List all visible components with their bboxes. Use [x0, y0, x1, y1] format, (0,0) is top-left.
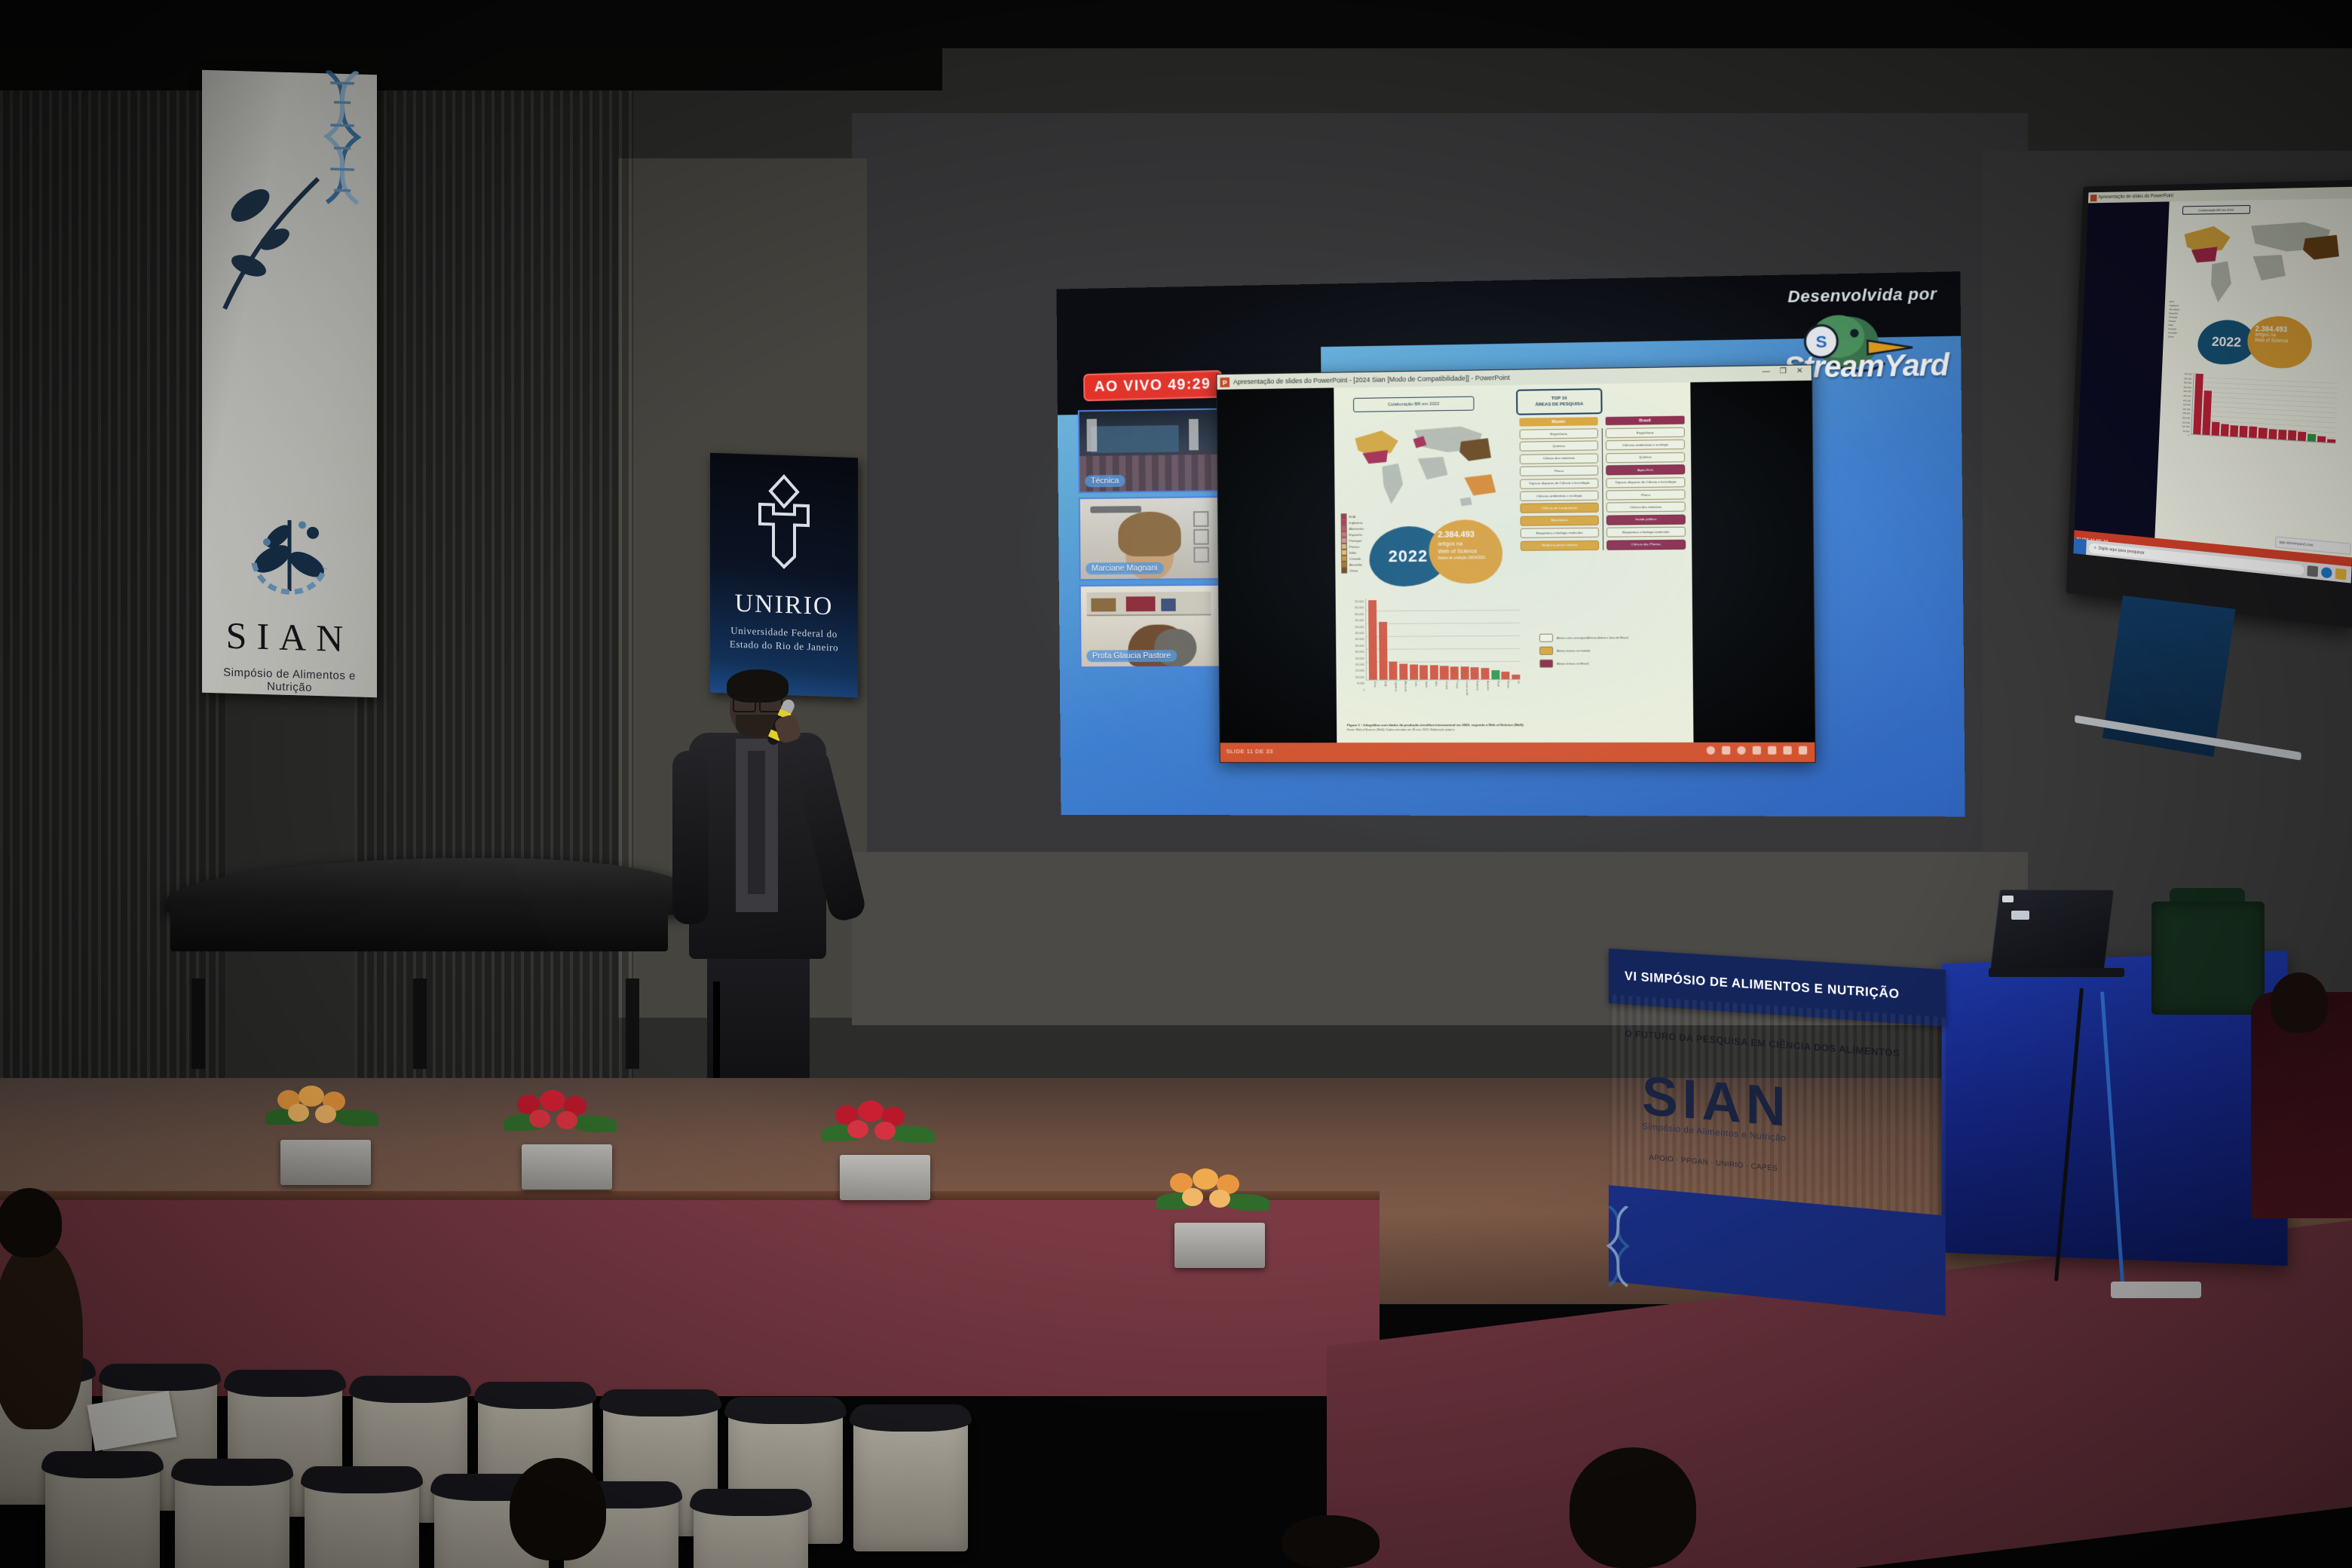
piano-leg [626, 978, 639, 1069]
chart-y-tick: 350.000 [1345, 643, 1364, 649]
chart-x-tick: Alemanha [1399, 681, 1407, 700]
chart-bar [1471, 667, 1479, 679]
research-area-brazil: Saúde pública [1606, 514, 1686, 525]
research-area-world: Engenharia [1520, 428, 1598, 439]
auditorium-seat [694, 1493, 808, 1568]
piano-body [170, 905, 668, 951]
speaker-arm-left [672, 751, 709, 924]
research-area-world: Medicina geral e interna [1521, 540, 1599, 550]
column-header-brazil: Brasil [1606, 416, 1685, 426]
chart-y-tick: 150.000 [1345, 668, 1364, 674]
stat-number: 2.384.493 [1438, 530, 1495, 540]
event-table-banner: VI SIMPÓSIO DE ALIMENTOS E NUTRIÇÃO O FU… [1609, 956, 1946, 1279]
chart-bar [1399, 664, 1407, 680]
participant-tile-tecnica[interactable]: Técnica [1078, 408, 1219, 493]
chart-y-tick: 300.000 [1345, 649, 1364, 655]
research-area-row: Medicina geral e internaCiência das Plan… [1521, 539, 1686, 550]
monitor-world-map [2177, 216, 2352, 308]
area-key-item: Áreas únicas no mundo [1539, 646, 1653, 655]
table-banner-title: VI SIMPÓSIO DE ALIMENTOS E NUTRIÇÃO [1625, 969, 1900, 1002]
presenter-laptop[interactable] [1989, 890, 2117, 980]
chart-x-tick: Brasil [1491, 681, 1499, 700]
chart-x-tick: Inglaterra [1389, 681, 1397, 700]
unirio-banner-title: UNIRIO [710, 589, 858, 623]
chart-x-tick: Rússia [1502, 681, 1510, 700]
chart-x-tick: Irã [1511, 681, 1520, 700]
chart-x-tick: Canadá [1440, 681, 1448, 700]
powerpoint-window[interactable]: P Apresentação de slides do PowerPoint -… [1216, 364, 1815, 763]
auditorium-seat [45, 1455, 160, 1568]
area-key-swatch [1539, 647, 1553, 655]
research-area-world: Ciências ambientais e ecologia [1520, 491, 1598, 501]
chart-bar [1410, 664, 1418, 679]
monitor-legend: EUAInglaterraAlemanhaEspanhaPortugalFran… [2168, 300, 2192, 340]
research-area-brazil: Agricultura [1606, 464, 1685, 475]
chart-x-tick: EUA [1379, 681, 1387, 701]
participant-tile-marciane[interactable]: Marciane Magnani [1079, 496, 1220, 580]
edge-browser-icon[interactable] [2321, 566, 2332, 578]
research-area-world: Ciência da Computação [1520, 503, 1598, 513]
search-icon: ⌕ [2094, 545, 2096, 550]
flower-arrangement-orange [1156, 1167, 1269, 1221]
more-icon[interactable] [1799, 746, 1807, 755]
column-header-world: Mundo [1519, 417, 1597, 426]
slide-caption: Figura 1 – Infográfico com dados da prod… [1347, 722, 1686, 732]
dna-helix-icon [1604, 1206, 1633, 1295]
chart-x-tick: Austrália [1481, 681, 1489, 700]
participant-name-label: Marciane Magnani [1086, 562, 1163, 575]
area-key-swatch [1539, 660, 1553, 668]
chart-bar [1389, 662, 1398, 680]
sian-banner-title: SIAN [202, 613, 377, 661]
chart-bar [1440, 666, 1448, 679]
chart-bar [2230, 425, 2238, 437]
auditorium-seat [305, 1470, 419, 1568]
research-area-world: Matemática [1521, 515, 1599, 525]
unirio-banner-subtitle: Universidade Federal doEstado do Rio de … [710, 623, 858, 656]
chart-bar [2221, 424, 2229, 436]
research-area-brazil: Ciências ambientais e ecologia [1606, 439, 1685, 450]
auditorium-scene: SIAN Simpósio de Alimentos e Nutrição UN… [0, 0, 2352, 1568]
live-status-badge: AO VIVO 49:29 [1083, 370, 1222, 401]
area-key-item: Áreas únicas no Brasil [1539, 659, 1653, 668]
research-area-brazil: Bioquímica e biologia molecular [1606, 527, 1686, 537]
chart-x-tick: Espanha [1471, 681, 1479, 700]
research-area-world: Tópicos díspares de Ciência e tecnologia [1520, 478, 1598, 488]
powerpoint-title-text: Apresentação de slides do PowerPoint - [… [1233, 374, 1510, 386]
streamyard-developed-by-label: Desenvolvida por [1787, 284, 1937, 307]
caption-source: Fonte: Web of Science (WoS). Dados extra… [1347, 728, 1455, 731]
flower-planter [522, 1144, 612, 1190]
chart-y-tick: 700.000 [1345, 599, 1364, 605]
chart-bar [1460, 667, 1468, 680]
zoom-icon[interactable] [1783, 746, 1791, 755]
laptop-base [1989, 968, 2124, 977]
chart-bar [1491, 670, 1499, 679]
research-area-row: EngenhariaEngenharia [1520, 427, 1685, 439]
areas-key-legend: Áreas com correspondência dentro e fora … [1539, 633, 1653, 672]
auditorium-seat [853, 1408, 968, 1551]
chart-bar [2240, 426, 2248, 437]
research-area-brazil: Tópicos díspares de Ciência e tecnologia [1606, 477, 1685, 488]
research-areas-columns: Mundo Brasil EngenhariaEngenhariaQuímica… [1519, 416, 1686, 553]
slide-top10-callout: TOP 10ÁREAS DE PESQUISA [1516, 388, 1603, 415]
monitor-slide: Colaboração BR em 2022 EUAInglaterraAlem… [2154, 198, 2352, 567]
slide-status-text: SLIDE 11 DE 33 [1226, 748, 1272, 755]
svg-text:S: S [1815, 332, 1827, 351]
chart-y-tick: 650.000 [1345, 605, 1364, 612]
flower-planter [1174, 1223, 1265, 1268]
chart-bar [1450, 666, 1459, 679]
unirio-vertical-banner: UNIRIO Universidade Federal doEstado do … [710, 453, 858, 698]
research-area-brazil: Física [1606, 489, 1686, 500]
auditorium-seat [175, 1462, 289, 1568]
chart-bar [2202, 390, 2212, 435]
stat-line1: artigos na [1438, 540, 1495, 547]
piano-leg [413, 978, 427, 1069]
explorer-icon[interactable] [2335, 568, 2347, 580]
windows-start-icon[interactable] [2073, 538, 2087, 555]
stop-icon[interactable] [1737, 746, 1745, 755]
chart-bar [1419, 665, 1428, 679]
participant-tile-glaucia[interactable]: Profa Glaucia Pastore [1080, 584, 1220, 668]
chart-bar [1368, 600, 1377, 680]
participant-name-label: Profa Glaucia Pastore [1086, 650, 1177, 662]
table-banner-logo: SIAN Simpósio de Alimentos e Nutrição [1642, 1064, 1790, 1144]
laptop-sticker [2011, 911, 2029, 920]
grid-icon[interactable] [1768, 746, 1776, 755]
research-area-world: Química [1520, 441, 1598, 452]
research-area-world: Ciência dos materiais [1520, 453, 1598, 464]
caption-text: Figura 1 – Infográfico com dados da prod… [1347, 723, 1524, 727]
chart-bar [2317, 436, 2326, 442]
flower-arrangement-orange [265, 1084, 378, 1138]
research-area-brazil: Engenharia [1606, 427, 1685, 438]
sian-logo-icon [233, 493, 346, 609]
powerpoint-icon: P [1220, 378, 1230, 387]
flower-arrangement-red [504, 1089, 617, 1143]
presentation-slide: Colaboração BR em 2022 TOP 10ÁREAS DE PE… [1334, 382, 1693, 743]
chart-x-tick: Itália [1429, 681, 1438, 700]
chart-bar [1481, 668, 1490, 679]
projection-screen: Desenvolvida por S StreamYard AO VIVO 49… [1056, 271, 1965, 816]
chart-bar [1430, 666, 1438, 680]
chart-y-axis: 700.000650.000600.000550.000500.000450.0… [1345, 599, 1365, 679]
chart-bar [2308, 434, 2316, 442]
area-key-swatch [1539, 634, 1553, 642]
chair-back [2151, 902, 2265, 1015]
attendee-head [1570, 1447, 1696, 1568]
area-key-label: Áreas únicas no mundo [1557, 648, 1590, 653]
monitor-slide-header: Colaboração BR em 2022 [2182, 205, 2250, 215]
participant-name-label: Técnica [1085, 475, 1125, 487]
monitor-title-text: Apresentação de slides do PowerPoint [2098, 194, 2173, 200]
pen-icon[interactable] [1753, 746, 1761, 755]
monitor-screen: Apresentação de slides do PowerPoint Col… [2073, 186, 2352, 583]
chart-bar [1511, 675, 1520, 679]
eyeglasses-icon [733, 698, 782, 709]
monitor-stat-blob: 2.384.493 artigos na Web of Science [2246, 316, 2313, 369]
country-bar-chart: 700.000650.000600.000550.000500.000450.0… [1345, 598, 1522, 695]
chart-bar [2278, 430, 2286, 440]
stat-note: Dados de extração 18/04/2023 [1438, 556, 1496, 561]
stat-line2: Web of Science [1438, 547, 1495, 555]
attendee-head [1282, 1515, 1380, 1568]
sian-vertical-banner: SIAN Simpósio de Alimentos e Nutrição [202, 70, 377, 697]
chart-x-tick: China [1368, 681, 1377, 701]
chart-bar [1379, 622, 1388, 680]
chart-bar [2193, 374, 2203, 435]
pause-icon[interactable] [1722, 746, 1730, 755]
power-strip [2111, 1282, 2201, 1298]
chart-bar [2212, 421, 2220, 436]
research-area-row: FísicaAgricultura [1520, 464, 1685, 476]
speaker-tie [748, 751, 765, 894]
chart-y-tick: 250.000 [1345, 655, 1364, 661]
chart-y-tick: 550.000 [1345, 617, 1364, 624]
powerpoint-presenter-bar[interactable]: SLIDE 11 DE 33 [1220, 743, 1815, 762]
piano-leg [191, 978, 205, 1069]
chart-y-tick: 450.000 [1345, 630, 1364, 636]
chart-y-tick: 200.000 [1345, 662, 1364, 668]
secondary-monitor: Apresentação de slides do PowerPoint Col… [2066, 179, 2352, 628]
ceiling-shadow [0, 0, 2352, 48]
chart-bar [2259, 427, 2267, 439]
stat-blob: 2.384.493 artigos na Web of Science Dado… [1429, 519, 1502, 584]
pointer-icon[interactable] [1707, 746, 1715, 755]
chart-x-tick: Coreia do Sul [1460, 681, 1468, 700]
research-area-row: Tópicos díspares de Ciência e tecnologia… [1520, 477, 1685, 489]
window-controls[interactable]: — ❐ ✕ [1762, 367, 1807, 376]
monitor-bar-chart: 700.000650.000600.000550.000500.000450.0… [2170, 372, 2338, 449]
sian-banner-subtitle: Simpósio de Alimentos e Nutrição [202, 666, 377, 696]
research-area-row: Bioquímica e biologia molecularBioquímic… [1521, 527, 1686, 538]
attendee-hair [0, 1241, 83, 1429]
slide-header-box: Colaboração BR em 2022 [1353, 397, 1475, 412]
powerpoint-canvas: Colaboração BR em 2022 TOP 10ÁREAS DE PE… [1217, 381, 1815, 743]
research-area-brazil: Ciência dos materiais [1606, 502, 1686, 513]
chart-bar [1502, 672, 1510, 679]
flower-planter [280, 1140, 371, 1185]
chart-x-labels: ChinaEUAInglaterraAlemanhaÍndiaJapãoItál… [1366, 681, 1521, 701]
research-area-world: Bioquímica e biologia molecular [1521, 528, 1599, 538]
search-placeholder: Digite aqui para pesquisar [2098, 546, 2144, 555]
chart-y-tick: 100.000 [1345, 675, 1364, 681]
chart-bar [2327, 439, 2335, 443]
area-key-item: Áreas com correspondência dentro e fora … [1539, 633, 1653, 642]
green-armchair [2151, 888, 2265, 1054]
chart-y-tick: 400.000 [1345, 636, 1364, 642]
chart-y-tick: 500.000 [1345, 624, 1364, 630]
research-area-row: MatemáticaSaúde pública [1521, 514, 1686, 525]
chart-bars [1366, 598, 1520, 680]
world-map-graphic [1349, 418, 1503, 510]
column-headers: Mundo Brasil [1519, 416, 1684, 427]
research-area-brazil: Ciência das Plantas [1606, 539, 1686, 550]
chart-x-tick: Japão [1419, 681, 1428, 700]
flower-arrangement-red [822, 1099, 935, 1153]
attendee-head [510, 1458, 606, 1560]
chart-bar [2288, 430, 2296, 440]
chart-bar [2268, 429, 2277, 439]
chart-y-tick: 50.000 [1345, 681, 1364, 687]
research-area-row: Ciência dos materiaisQuímica [1520, 452, 1685, 464]
research-areas-rows: EngenhariaEngenhariaQuímicaCiências ambi… [1520, 427, 1686, 551]
flower-planter [840, 1155, 930, 1200]
chart-y-tick: 0 [1346, 687, 1365, 693]
chart-bar [2297, 432, 2305, 441]
chart-bar [2249, 427, 2257, 438]
research-area-brazil: Química [1606, 452, 1685, 463]
chart-y-tick: 600.000 [1345, 611, 1364, 618]
chart-plot-area [1365, 598, 1520, 681]
powerpoint-icon [2090, 194, 2097, 201]
unirio-logo-icon [751, 470, 817, 586]
research-area-row: Ciências ambientais e ecologiaFísica [1520, 489, 1685, 501]
chart-x-tick: França [1450, 681, 1458, 700]
grand-piano [164, 858, 707, 1069]
attendee-head [0, 1188, 62, 1257]
leaf-branch-icon [220, 168, 326, 314]
research-area-row: QuímicaCiências ambientais e ecologia [1520, 439, 1685, 452]
task-view-icon[interactable] [2307, 565, 2318, 577]
research-area-row: Ciência da ComputaçãoCiência dos materia… [1520, 502, 1685, 513]
chart-x-tick: Índia [1409, 681, 1417, 700]
presenter-controls[interactable] [1707, 746, 1807, 755]
research-area-world: Física [1520, 466, 1598, 476]
area-key-label: Áreas únicas no Brasil [1557, 661, 1588, 666]
laptop-sticker [2002, 896, 2014, 902]
area-key-label: Áreas com correspondência dentro e fora … [1557, 635, 1628, 640]
attendee-head [2271, 972, 2328, 1033]
participant-tile-list: Técnica Marciane Magnani Profa Glaucia P… [1078, 409, 1217, 673]
